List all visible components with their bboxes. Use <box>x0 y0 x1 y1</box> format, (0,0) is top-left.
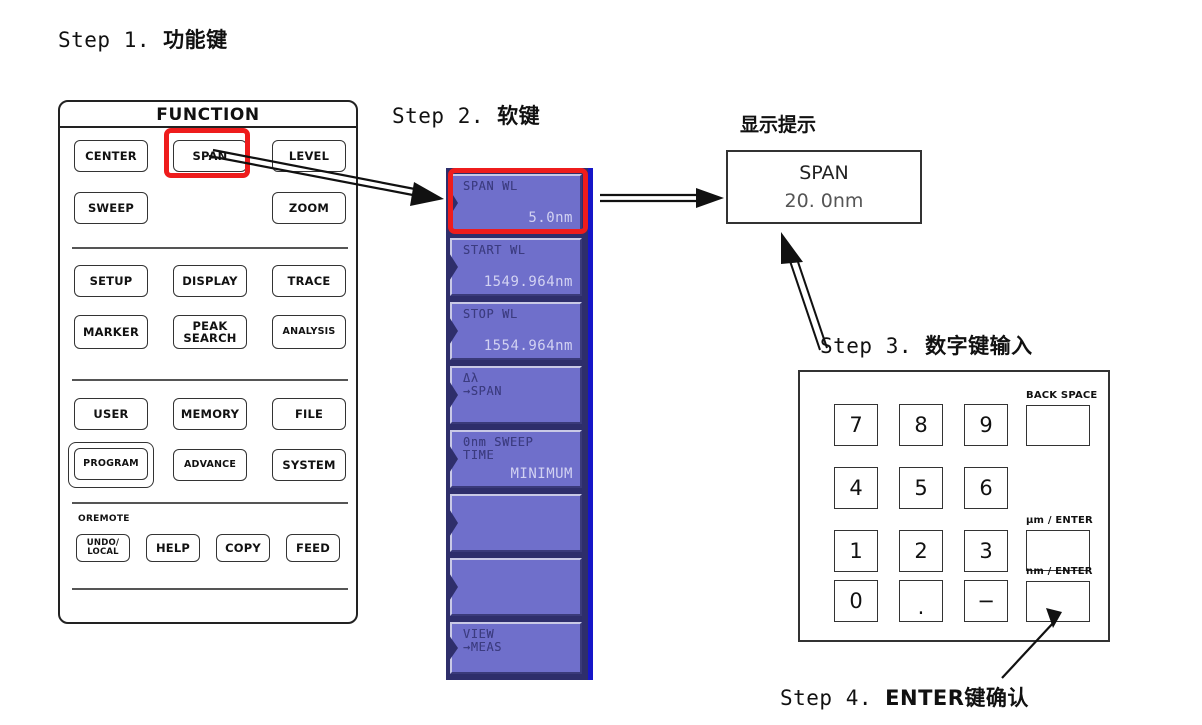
step-1-caption: Step 1. 功能键 <box>58 24 228 54</box>
function-button-help[interactable]: HELP <box>146 534 200 562</box>
keypad-key-9[interactable]: 9 <box>964 404 1008 446</box>
keypad-key-2[interactable]: 2 <box>899 530 943 572</box>
keypad-key-back-space[interactable] <box>1026 405 1090 446</box>
step-2-caption: Step 2. 软键 <box>392 100 540 130</box>
function-button-display[interactable]: DISPLAY <box>173 265 247 297</box>
function-button-memory[interactable]: MEMORY <box>173 398 247 430</box>
softkey-view-meas[interactable]: VIEW →MEAS <box>450 622 582 674</box>
span-display-title: SPAN <box>728 162 920 184</box>
keypad-panel: 7 8 9 4 5 6 1 2 3 0 . − BACK SPACE μm / … <box>798 370 1110 642</box>
keypad-back-space-label: BACK SPACE <box>1026 390 1097 401</box>
keypad-key-0[interactable]: 0 <box>834 580 878 622</box>
step-4-caption: Step 4. ENTER键确认 <box>780 682 1029 712</box>
step-3-text: 数字键输入 <box>925 334 1033 358</box>
function-button-zoom[interactable]: ZOOM <box>272 192 346 224</box>
span-display-value: 20. 0nm <box>728 190 920 212</box>
keypad-key-6[interactable]: 6 <box>964 467 1008 509</box>
keypad-key-4[interactable]: 4 <box>834 467 878 509</box>
softkey-delta-lambda-span[interactable]: Δλ →SPAN <box>450 366 582 424</box>
softkey-start-wl[interactable]: START WL 1549.964nm <box>450 238 582 296</box>
span-display-box: SPAN 20. 0nm <box>726 150 922 224</box>
display-hint-caption: 显示提示 <box>740 110 816 137</box>
softkey-zero-nm-sweep-time-value: MINIMUM <box>510 466 573 482</box>
step-2-text: 软键 <box>497 104 540 128</box>
function-button-advance[interactable]: ADVANCE <box>173 449 247 481</box>
function-button-center[interactable]: CENTER <box>74 140 148 172</box>
keypad-um-enter-label: μm / ENTER <box>1026 515 1093 526</box>
function-panel-title: FUNCTION <box>60 102 356 128</box>
softkey-view-meas-label: VIEW →MEAS <box>463 628 502 654</box>
function-button-file[interactable]: FILE <box>272 398 346 430</box>
function-button-system[interactable]: SYSTEM <box>272 449 346 481</box>
divider-1 <box>72 247 348 249</box>
peak-search-line-2: SEARCH <box>183 332 236 344</box>
function-button-marker[interactable]: MARKER <box>74 315 148 349</box>
softkey-blank-1[interactable] <box>450 494 582 552</box>
function-button-feed[interactable]: FEED <box>286 534 340 562</box>
function-button-copy[interactable]: COPY <box>216 534 270 562</box>
function-button-analysis[interactable]: ANALYSIS <box>272 315 346 349</box>
softkey-stop-wl[interactable]: STOP WL 1554.964nm <box>450 302 582 360</box>
undo-local-line-2: LOCAL <box>87 548 119 557</box>
step-4-text: ENTER键确认 <box>885 686 1029 710</box>
function-button-program[interactable]: PROGRAM <box>74 448 148 480</box>
softkey-panel-edge <box>588 168 593 680</box>
divider-2 <box>72 379 348 381</box>
function-panel: FUNCTION CENTER SPAN LEVEL SWEEP ZOOM SE… <box>58 100 358 624</box>
step-4-label: Step 4. <box>780 686 872 710</box>
keypad-key-1[interactable]: 1 <box>834 530 878 572</box>
function-button-setup[interactable]: SETUP <box>74 265 148 297</box>
softkey-delta-lambda-span-label: Δλ →SPAN <box>463 372 502 398</box>
step-1-label: Step 1. <box>58 28 150 52</box>
keypad-key-3[interactable]: 3 <box>964 530 1008 572</box>
softkey-zero-nm-sweep-time[interactable]: 0nm SWEEP TIME MINIMUM <box>450 430 582 488</box>
softkey-blank-2[interactable] <box>450 558 582 616</box>
divider-3 <box>72 502 348 504</box>
function-button-sweep[interactable]: SWEEP <box>74 192 148 224</box>
step-3-caption: Step 3. 数字键输入 <box>820 330 1033 360</box>
oremote-label: OREMOTE <box>78 514 130 524</box>
softkey-start-wl-label: START WL <box>463 244 526 257</box>
softkey-zero-nm-sweep-time-label: 0nm SWEEP TIME <box>463 436 533 462</box>
softkey-start-wl-value: 1549.964nm <box>484 274 573 290</box>
keypad-key-um-enter[interactable] <box>1026 530 1090 571</box>
step-2-label: Step 2. <box>392 104 484 128</box>
step-1-text: 功能键 <box>163 28 228 52</box>
keypad-nm-enter-label: nm / ENTER <box>1026 566 1093 577</box>
function-button-trace[interactable]: TRACE <box>272 265 346 297</box>
keypad-key-8[interactable]: 8 <box>899 404 943 446</box>
keypad-key-decimal[interactable]: . <box>899 580 943 622</box>
keypad-key-minus[interactable]: − <box>964 580 1008 622</box>
keypad-key-nm-enter[interactable] <box>1026 581 1090 622</box>
softkey-panel: SPAN WL 5.0nm START WL 1549.964nm STOP W… <box>446 168 592 680</box>
arrow-softkey-to-display <box>600 188 724 208</box>
function-button-undo-local[interactable]: UNDO/ LOCAL <box>76 534 130 562</box>
step-3-label: Step 3. <box>820 334 912 358</box>
function-button-level[interactable]: LEVEL <box>272 140 346 172</box>
keypad-key-7[interactable]: 7 <box>834 404 878 446</box>
function-button-peak-search[interactable]: PEAK SEARCH <box>173 315 247 349</box>
softkey-span-wl-highlight <box>448 168 588 234</box>
keypad-key-5[interactable]: 5 <box>899 467 943 509</box>
function-button-user[interactable]: USER <box>74 398 148 430</box>
softkey-stop-wl-value: 1554.964nm <box>484 338 573 354</box>
span-button-highlight <box>164 128 250 178</box>
softkey-stop-wl-label: STOP WL <box>463 308 518 321</box>
divider-4 <box>72 588 348 590</box>
